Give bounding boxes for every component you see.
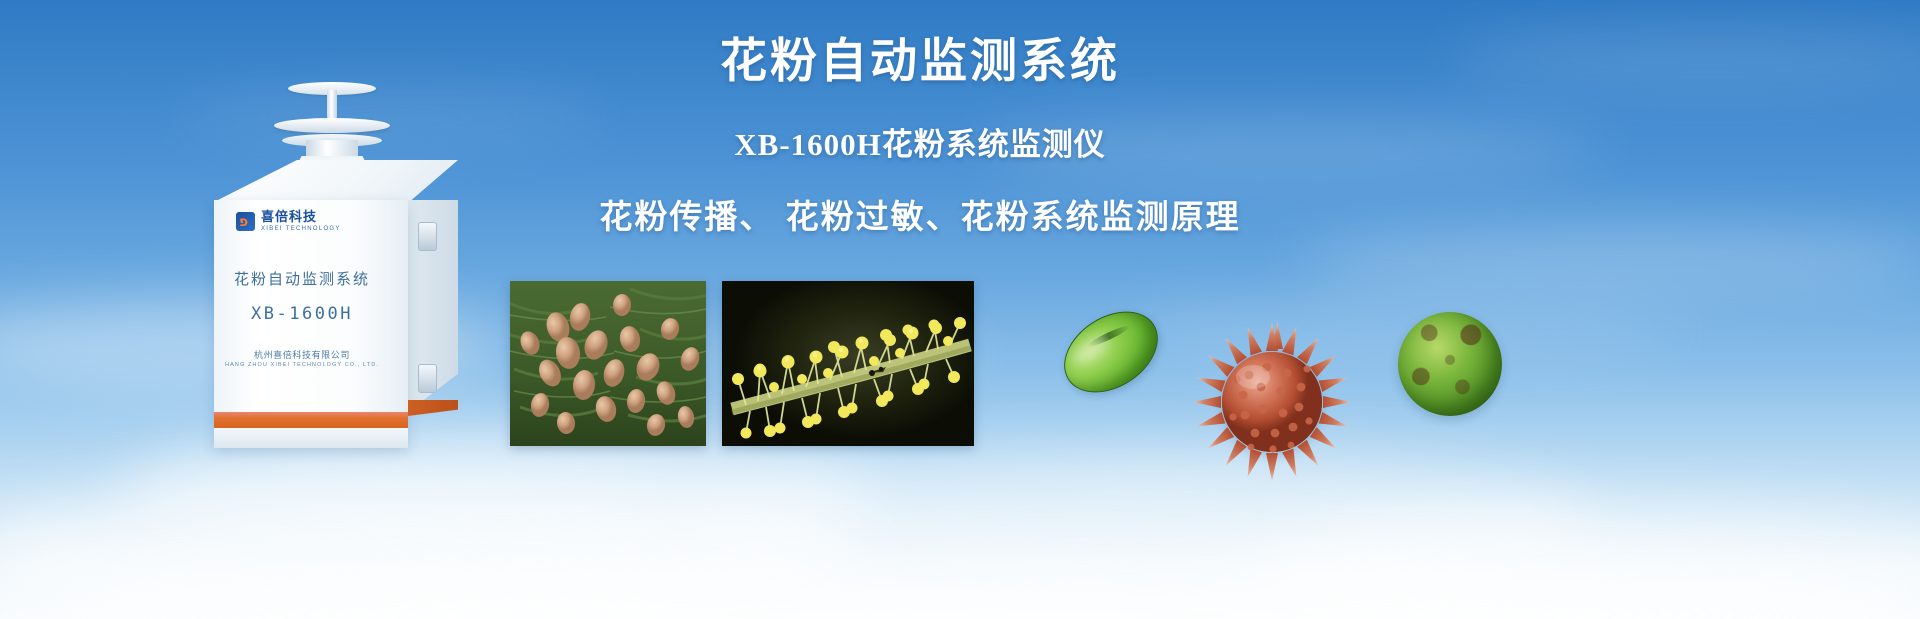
logo-glyph: פ: [239, 213, 248, 231]
device-company-en: HANG ZHOU XIBEI TECHNOLOGY CO., LTD.: [196, 362, 390, 368]
catkin-pollen-photo: [722, 281, 974, 446]
banner-heading-block: 花粉自动监测系统 XB-1600H花粉系统监测仪 花粉传播、 花粉过敏、花粉系统…: [560, 32, 1280, 238]
spiky-pollen-art: [1187, 317, 1357, 487]
cloud-wisp: [1250, 505, 1920, 619]
cabinet-orange-base: [214, 412, 408, 428]
brand-name-en: XIBEI TECHNOLOGY: [261, 226, 341, 232]
page-title: 花粉自动监测系统: [560, 32, 1280, 91]
cabinet-latch-bottom: [418, 364, 437, 393]
device-company-cn: 杭州喜倍科技有限公司: [196, 348, 390, 361]
pollen-highlight: [1069, 332, 1113, 370]
catkin-photo-art: [722, 281, 974, 446]
cabinet-latch-top: [418, 222, 437, 251]
pollen-monitor-device: פ 喜倍科技 XIBEI TECHNOLOGY 花粉自动监测系统 XB-1600…: [196, 82, 476, 432]
horizon-haze: [0, 560, 1920, 619]
sampler-disc-upper: [274, 118, 390, 133]
cabinet-foot: [214, 428, 408, 448]
cabinet-front-face: [214, 200, 408, 448]
xibei-logo-icon: פ: [236, 212, 255, 231]
cabinet-orange-base-side: [408, 400, 458, 416]
device-product-name: 花粉自动监测系统: [196, 268, 390, 289]
cloud-wisp: [1300, 225, 1920, 295]
green-rough-pollen-grain: [1398, 312, 1502, 416]
page-tagline: 花粉传播、 花粉过敏、花粉系统监测原理: [560, 190, 1280, 238]
brand-name-cn: 喜倍科技: [261, 210, 341, 224]
cypress-photo-art: [510, 281, 706, 446]
device-model: XB-1600H: [196, 304, 390, 324]
cloud-wisp: [120, 430, 880, 550]
cloud-wisp: [1450, 30, 1920, 85]
cloud-wisp: [0, 480, 860, 619]
green-smooth-pollen-grain: [1049, 295, 1173, 409]
device-logo: פ 喜倍科技 XIBEI TECHNOLOGY: [236, 210, 341, 232]
red-spiky-pollen-grain: [1222, 352, 1322, 452]
pollen-monitoring-banner: פ 喜倍科技 XIBEI TECHNOLOGY 花粉自动监测系统 XB-1600…: [0, 0, 1920, 619]
page-subtitle: XB-1600H花粉系统监测仪: [560, 119, 1280, 164]
cabinet-top-face: [214, 160, 458, 202]
cloud-wisp: [700, 455, 1600, 585]
cypress-pollen-cones-photo: [510, 281, 706, 446]
